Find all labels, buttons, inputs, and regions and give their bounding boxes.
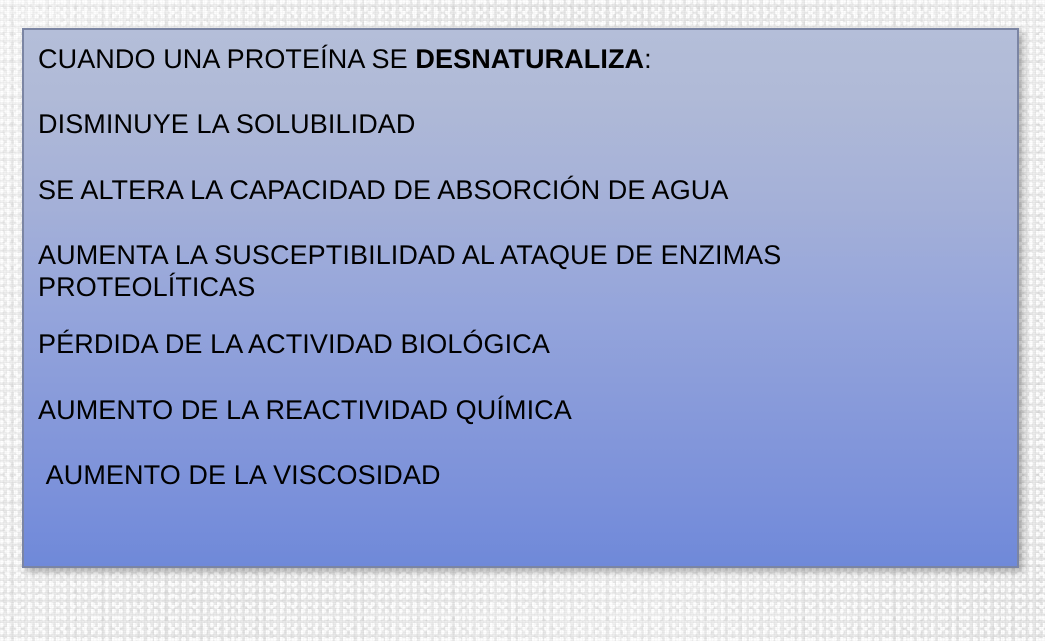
bullet-line-reactividad-quimica: AUMENTO DE LA REACTIVIDAD QUÍMICA: [38, 395, 1001, 426]
heading-suffix: :: [644, 44, 652, 74]
bullet-line-enzimas-proteoliticas: AUMENTA LA SUSCEPTIBILIDAD AL ATAQUE DE …: [38, 240, 873, 303]
heading-emphasis-desnaturaliza: DESNATURALIZA: [415, 44, 644, 74]
bullet-line-absorcion-agua: SE ALTERA LA CAPACIDAD DE ABSORCIÓN DE A…: [38, 175, 1001, 206]
heading-line: CUANDO UNA PROTEÍNA SE DESNATURALIZA:: [38, 44, 1001, 75]
slide-canvas: CUANDO UNA PROTEÍNA SE DESNATURALIZA: DI…: [0, 0, 1045, 641]
bullet-line-viscosidad: AUMENTO DE LA VISCOSIDAD: [38, 460, 1001, 491]
content-text-box[interactable]: CUANDO UNA PROTEÍNA SE DESNATURALIZA: DI…: [22, 28, 1019, 568]
body-text-block: CUANDO UNA PROTEÍNA SE DESNATURALIZA: DI…: [38, 44, 1001, 492]
heading-prefix: CUANDO UNA PROTEÍNA SE: [38, 44, 415, 74]
bullet-line-actividad-biologica: PÉRDIDA DE LA ACTIVIDAD BIOLÓGICA: [38, 329, 1001, 360]
bullet-line-solubilidad: DISMINUYE LA SOLUBILIDAD: [38, 109, 1001, 140]
